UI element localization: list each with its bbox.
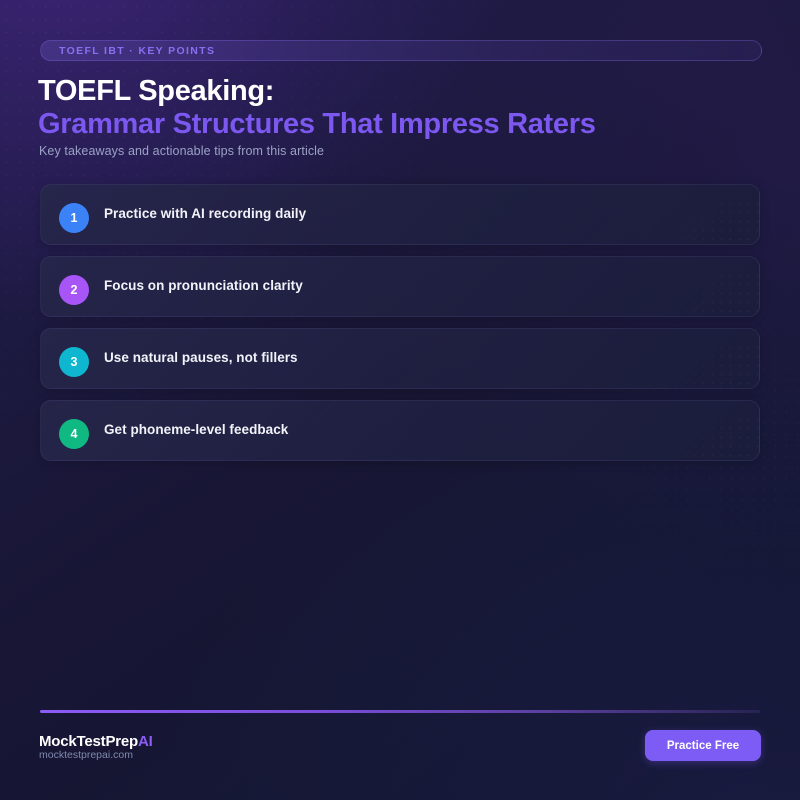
step-number-badge: 4 [59,419,89,449]
footer-divider [40,710,760,713]
page-subtitle: Key takeaways and actionable tips from t… [39,144,324,158]
list-item-label: Get phoneme-level feedback [104,422,288,437]
brand-logo: MockTestPrepAI [39,733,153,750]
eyebrow-label: TOEFL IBT · KEY POINTS [41,45,215,57]
list-item-label: Use natural pauses, not fillers [104,350,298,365]
eyebrow-badge: TOEFL IBT · KEY POINTS [40,40,762,61]
list-item-label: Focus on pronunciation clarity [104,278,303,293]
step-number-badge: 3 [59,347,89,377]
page-title-line-1: TOEFL Speaking: [38,74,274,108]
step-number-badge: 1 [59,203,89,233]
page-title-line-2: Grammar Structures That Impress Raters [38,107,596,141]
list-item[interactable]: 2 Focus on pronunciation clarity [40,256,760,317]
brand-name-accent: AI [138,733,153,750]
list-item-label: Practice with AI recording daily [104,206,306,221]
brand-url: mocktestprepai.com [39,749,133,761]
infographic-card: TOEFL IBT · KEY POINTS TOEFL Speaking: G… [0,0,800,800]
key-points-list: 1 Practice with AI recording daily 2 Foc… [40,184,760,472]
list-item[interactable]: 1 Practice with AI recording daily [40,184,760,245]
practice-free-button[interactable]: Practice Free [645,730,761,761]
list-item[interactable]: 3 Use natural pauses, not fillers [40,328,760,389]
step-number-badge: 2 [59,275,89,305]
list-item[interactable]: 4 Get phoneme-level feedback [40,400,760,461]
brand-name-main: MockTestPrep [39,733,138,750]
